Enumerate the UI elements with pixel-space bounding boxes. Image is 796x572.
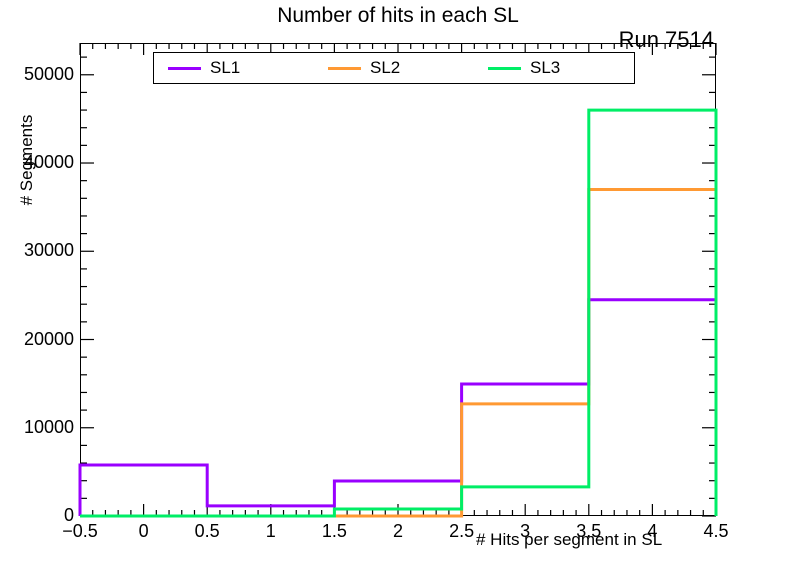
legend-swatch-sl3 xyxy=(488,67,521,70)
y-tick-label: 20000 xyxy=(2,329,74,350)
legend-entry-sl2: SL2 xyxy=(314,58,474,78)
y-tick-label: 10000 xyxy=(2,417,74,438)
histogram-series-sl2 xyxy=(80,189,716,516)
y-tick-label: 40000 xyxy=(2,152,74,173)
x-tick-label: −0.5 xyxy=(50,521,110,542)
legend-entry-sl1: SL1 xyxy=(154,58,314,78)
x-tick-label: 1.5 xyxy=(304,521,364,542)
legend-label-sl3: SL3 xyxy=(530,58,560,78)
chart-canvas: Number of hits in each SL Run 7514 # Seg… xyxy=(0,0,796,572)
x-tick-label: 0.5 xyxy=(177,521,237,542)
y-tick-label: 50000 xyxy=(2,64,74,85)
x-tick-label: 2.5 xyxy=(432,521,492,542)
x-tick-label: 3 xyxy=(495,521,555,542)
x-tick-label: 4.5 xyxy=(686,521,746,542)
legend: SL1 SL2 SL3 xyxy=(153,52,635,84)
legend-swatch-sl2 xyxy=(328,67,361,70)
x-tick-label: 1 xyxy=(241,521,301,542)
axis-ticks xyxy=(80,43,716,516)
chart-plot-area xyxy=(0,0,796,572)
legend-label-sl1: SL1 xyxy=(210,58,240,78)
x-tick-label: 4 xyxy=(622,521,682,542)
histogram-series-sl1 xyxy=(80,300,716,516)
legend-swatch-sl1 xyxy=(168,67,201,70)
legend-label-sl2: SL2 xyxy=(370,58,400,78)
x-tick-label: 0 xyxy=(114,521,174,542)
legend-entry-sl3: SL3 xyxy=(474,58,634,78)
histogram-series-sl3 xyxy=(80,110,716,516)
x-tick-label: 3.5 xyxy=(559,521,619,542)
x-tick-label: 2 xyxy=(368,521,428,542)
y-tick-label: 30000 xyxy=(2,240,74,261)
